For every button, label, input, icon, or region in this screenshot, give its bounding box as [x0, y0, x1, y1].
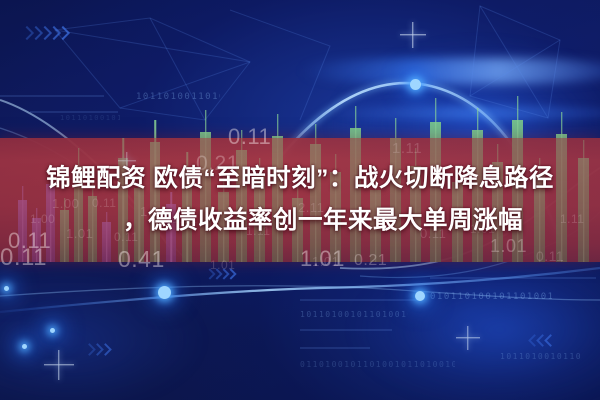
news-banner: 0.110.211.111.000.111.011.001.012.110.11… [0, 0, 600, 400]
headline-block: 锦鲤配资 欧债“至暗时刻”：战火切断降息路径 ，德债收益率创一年来最大单周涨幅 [0, 158, 600, 242]
headline-line-2: ，德债收益率创一年来最大单周涨幅 [0, 200, 600, 242]
headline-line-1: 锦鲤配资 欧债“至暗时刻”：战火切断降息路径 [0, 158, 600, 200]
